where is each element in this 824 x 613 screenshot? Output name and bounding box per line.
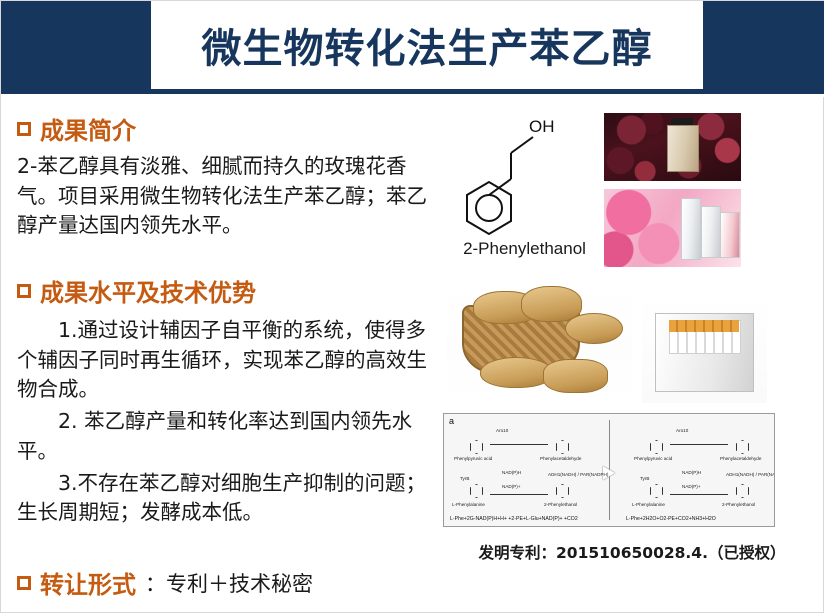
scheme-right-enzyme-right: ADH1(NADH) / PAR(NADPH) [726, 472, 775, 477]
section-transfer: 转让形式 ：专利＋技术秘密 [17, 565, 437, 600]
scheme-left-enzyme-right: ADH1(NADH) / PAR(NADPH) [548, 472, 608, 477]
scheme-right-equation: L-Phe+2H2O+O2-PE+CO2+NH3+H2O [626, 516, 716, 522]
square-bullet-icon [17, 284, 31, 298]
section-transfer-heading: 转让形式 ：专利＋技术秘密 [17, 565, 437, 600]
title-band: 微生物转化法生产苯乙醇 [1, 1, 824, 89]
bread-loaf [565, 313, 623, 344]
left-column: 成果简介 2-苯乙醇具有淡雅、细腻而持久的玫瑰花香气。项目采用微生物转化法生产苯… [11, 105, 436, 610]
section-advantages: 成果水平及技术优势 1.通过设计辅因子自平衡的系统，使得多个辅因子同时再生循环，… [17, 273, 437, 530]
section-overview: 成果简介 2-苯乙醇具有淡雅、细腻而持久的玫瑰花香气。项目采用微生物转化法生产苯… [17, 111, 435, 241]
page-title: 微生物转化法生产苯乙醇 [151, 9, 703, 81]
cosmetics-image-content [604, 189, 741, 267]
section-transfer-heading-text: 转让形式 [40, 565, 136, 600]
section-overview-heading: 成果简介 [17, 111, 435, 146]
scheme-right-product-bottom: 2-Phenylethanol [722, 502, 755, 507]
scheme-arrow [490, 444, 548, 445]
section-overview-heading-text: 成果简介 [40, 111, 136, 146]
scheme-left-substrate-bottom: L-Phenylalanine [452, 502, 485, 507]
section-transfer-inline-text: ：专利＋技术秘密 [145, 568, 313, 598]
perfume-bottle [667, 125, 699, 172]
section-advantages-heading: 成果水平及技术优势 [17, 273, 437, 308]
square-bullet-icon [17, 576, 31, 590]
scheme-left-cofactor-in: NAD(P)H [502, 470, 521, 475]
scheme-benzene-icon [650, 484, 663, 498]
scheme-left-product: Phenylacetaldehyde [540, 456, 581, 461]
cigarettes-image-content [642, 293, 767, 403]
molecule-oh-label: OH [529, 117, 555, 137]
scheme-left-substrate: Phenylpyruvic acid [454, 456, 492, 461]
scheme-right-substrate-bottom: L-Phenylalanine [632, 502, 665, 507]
bread-loaf [480, 357, 552, 388]
perfume-roses-photo [604, 113, 741, 181]
scheme-right-product: Phenylacetaldehyde [720, 456, 761, 461]
scheme-right-enzyme-left: TyrB [640, 476, 649, 481]
scheme-left-product-bottom: 2-Phenylethanol [544, 502, 577, 507]
scheme-panel-label: a [449, 416, 454, 426]
molecule-structure-figure: OH [447, 109, 607, 259]
scheme-benzene-icon [556, 440, 569, 454]
pathway-scheme-content: a Aro10 Phenylpyruvic acid Phenylacetald… [444, 414, 774, 526]
patent-label: 发明专利：201510650028.4.（已授权） [449, 541, 815, 563]
scheme-left-enzyme-left: TyrB [460, 476, 469, 481]
scheme-benzene-icon [650, 440, 663, 454]
phenylethanol-skeleton-icon [447, 109, 607, 259]
scheme-left-cofactor-out: NAD(P)+ [502, 484, 521, 489]
slide: 微生物转化法生产苯乙醇 成果简介 2-苯乙醇具有淡雅、细腻而持久的玫瑰花香气。项… [0, 0, 824, 613]
scheme-benzene-icon [470, 440, 483, 454]
advantage-item-2: 2. 苯乙醇产量和转化率达到国内领先水平。 [17, 407, 432, 466]
perfume-roses-image-content [604, 113, 741, 181]
square-bullet-icon [17, 122, 31, 136]
cigarette-filters [669, 320, 739, 332]
scheme-benzene-icon [556, 484, 569, 498]
pathway-scheme-figure: a Aro10 Phenylpyruvic acid Phenylacetald… [443, 413, 775, 527]
bread-image-content [447, 281, 632, 403]
cigarettes-photo [642, 293, 767, 403]
bread-loaf [543, 359, 608, 393]
scheme-left-equation: L-Phe+2G-NAD(P)H+H+ +2-PE+L-Glu+NAD(P)+ … [450, 516, 578, 522]
section-overview-paragraph: 2-苯乙醇具有淡雅、细腻而持久的玫瑰花香气。项目采用微生物转化法生产苯乙醇；苯乙… [17, 152, 427, 241]
cigarette-pack [655, 313, 755, 392]
scheme-right-substrate: Phenylpyruvic acid [634, 456, 672, 461]
cosmetic-tube-3 [720, 212, 740, 258]
scheme-left-enzyme-top: Aro10 [496, 428, 508, 433]
advantage-item-1: 1.通过设计辅因子自平衡的系统，使得多个辅因子同时再生循环，实现苯乙醇的高效生物… [17, 316, 432, 405]
scheme-arrow [490, 494, 548, 495]
cosmetics-photo [604, 189, 741, 267]
molecule-name-label: 2-Phenylethanol [437, 239, 612, 259]
scheme-right-enzyme-top: Aro10 [676, 428, 688, 433]
scheme-benzene-icon [736, 484, 749, 498]
scheme-right-cofactor-in: NAD(P)H [682, 470, 701, 475]
scheme-benzene-icon [736, 440, 749, 454]
scheme-benzene-icon [470, 484, 483, 498]
section-advantages-body: 1.通过设计辅因子自平衡的系统，使得多个辅因子同时再生循环，实现苯乙醇的高效生物… [17, 316, 432, 528]
cosmetic-tube-2 [701, 206, 721, 258]
cosmetic-tube-1 [681, 198, 701, 259]
title-underline-gap [1, 94, 824, 97]
bread-basket-photo [447, 281, 632, 403]
section-advantages-heading-text: 成果水平及技术优势 [40, 273, 256, 308]
scheme-arrow [670, 494, 728, 495]
title-stripe-right [703, 1, 824, 89]
advantage-item-3: 3.不存在苯乙醇对细胞生产抑制的问题；生长周期短；发酵成本低。 [17, 469, 432, 528]
scheme-arrow [670, 444, 728, 445]
right-column: OH 2-Phenylethanol [437, 101, 817, 606]
scheme-right-cofactor-out: NAD(P)+ [682, 484, 701, 489]
title-stripe-left [1, 1, 151, 89]
